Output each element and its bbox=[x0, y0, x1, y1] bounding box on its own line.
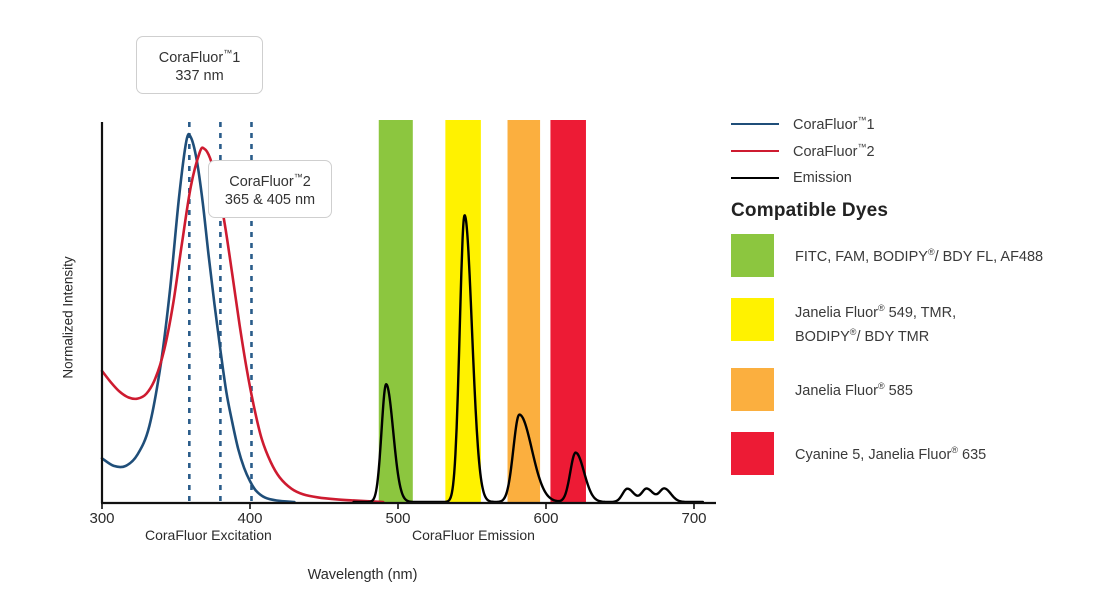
green-band bbox=[379, 120, 413, 502]
y-axis-label: Normalized Intensity bbox=[61, 228, 76, 408]
axis-section-excitation: CoraFluor Excitation bbox=[145, 527, 272, 543]
compatible-dyes-list: FITC, FAM, BODIPY®/ BDY FL, AF488Janelia… bbox=[731, 234, 1106, 496]
compatible-dyes-title: Compatible Dyes bbox=[731, 200, 888, 222]
legend-item-2[interactable]: Emission bbox=[731, 164, 1101, 191]
callout-cf2-line1: CoraFluor™2 bbox=[221, 168, 319, 191]
legend-swatch-line-2 bbox=[731, 177, 779, 179]
x-tick-label-400: 400 bbox=[220, 510, 280, 527]
series-legend: CoraFluor™1CoraFluor™2Emission bbox=[731, 110, 1101, 191]
dye-label-3: Cyanine 5, Janelia Fluor® 635 bbox=[795, 432, 986, 465]
x-tick-label-300: 300 bbox=[72, 510, 132, 527]
callout-cf1-line1: CoraFluor™1 bbox=[149, 44, 250, 67]
legend-label-2: Emission bbox=[793, 170, 852, 186]
yellow-band bbox=[445, 120, 481, 502]
dye-swatch-3 bbox=[731, 432, 774, 475]
axis-section-emission: CoraFluor Emission bbox=[412, 527, 535, 543]
dye-row-3[interactable]: Cyanine 5, Janelia Fluor® 635 bbox=[731, 432, 1106, 475]
dye-label-1: Janelia Fluor® 549, TMR,BODIPY®/ BDY TMR bbox=[795, 298, 956, 347]
x-tick-label-500: 500 bbox=[368, 510, 428, 527]
dye-row-2[interactable]: Janelia Fluor® 585 bbox=[731, 368, 1106, 411]
dye-swatch-0 bbox=[731, 234, 774, 277]
dye-label-2: Janelia Fluor® 585 bbox=[795, 368, 913, 401]
legend-item-1[interactable]: CoraFluor™2 bbox=[731, 137, 1101, 164]
dye-row-1[interactable]: Janelia Fluor® 549, TMR,BODIPY®/ BDY TMR bbox=[731, 298, 1106, 347]
legend-swatch-line-0 bbox=[731, 123, 779, 125]
callout-cf2-line2: 365 & 405 nm bbox=[221, 191, 319, 209]
x-axis-label: Wavelength (nm) bbox=[0, 567, 725, 583]
red-band bbox=[550, 120, 586, 502]
emission-band-group bbox=[379, 120, 586, 502]
orange-band bbox=[508, 120, 541, 502]
x-tick-label-700: 700 bbox=[664, 510, 724, 527]
x-tick-label-600: 600 bbox=[516, 510, 576, 527]
legend-item-0[interactable]: CoraFluor™1 bbox=[731, 110, 1101, 137]
callout-corafluor-2: CoraFluor™2 365 & 405 nm bbox=[208, 160, 332, 218]
dye-row-0[interactable]: FITC, FAM, BODIPY®/ BDY FL, AF488 bbox=[731, 234, 1106, 277]
legend-swatch-line-1 bbox=[731, 150, 779, 152]
dye-swatch-2 bbox=[731, 368, 774, 411]
dye-label-0: FITC, FAM, BODIPY®/ BDY FL, AF488 bbox=[795, 234, 1043, 267]
callout-corafluor-1: CoraFluor™1 337 nm bbox=[136, 36, 263, 94]
dye-swatch-1 bbox=[731, 298, 774, 341]
callout-cf1-line2: 337 nm bbox=[149, 67, 250, 85]
legend-label-1: CoraFluor™2 bbox=[793, 142, 875, 160]
legend-label-0: CoraFluor™1 bbox=[793, 115, 875, 133]
